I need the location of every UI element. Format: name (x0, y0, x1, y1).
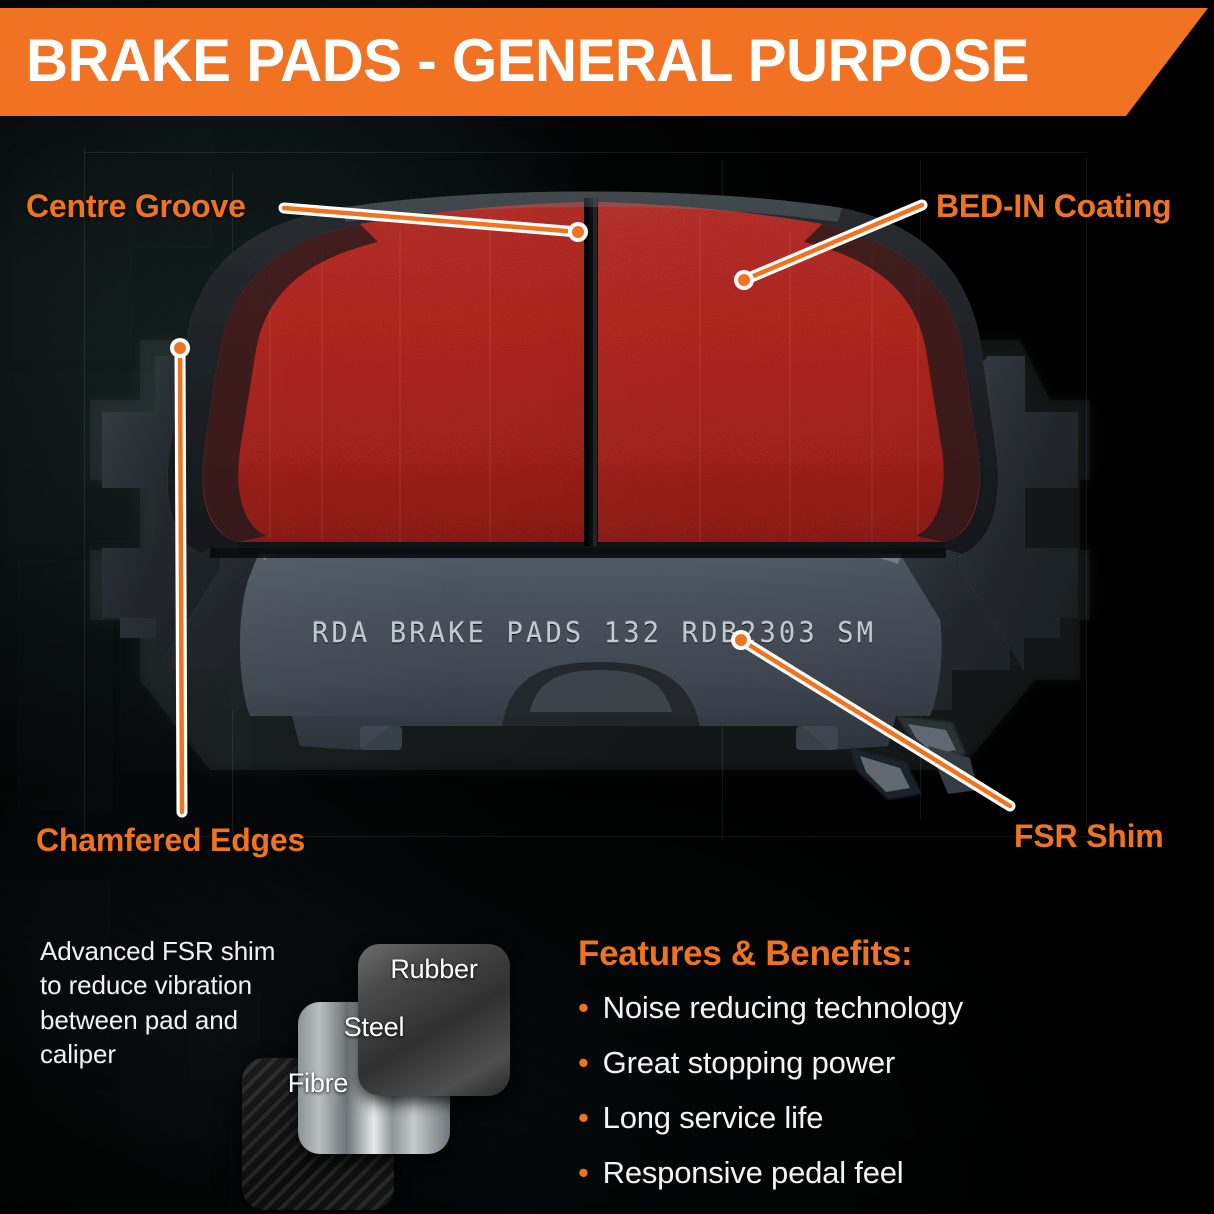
feature-text: Great stopping power (603, 1045, 895, 1081)
features-list: • Noise reducing technology • Great stop… (578, 990, 1138, 1191)
feature-text: Noise reducing technology (603, 990, 963, 1026)
feature-text: Long service life (603, 1100, 824, 1136)
bullet-icon: • (578, 1047, 589, 1078)
brake-pad-illustration: RDA BRAKE PADS 132 RDB2303 SM (60, 150, 1120, 830)
features-heading: Features & Benefits: (578, 934, 1138, 974)
feature-item: • Responsive pedal feel (578, 1155, 1138, 1191)
feature-item: • Long service life (578, 1100, 1138, 1136)
brake-pad-graphic (60, 150, 1120, 830)
engraved-part-number: RDA BRAKE PADS 132 RDB2303 SM (312, 617, 876, 650)
bullet-icon: • (578, 992, 589, 1023)
shim-layers-diagram: Fibre Steel Rubber (236, 930, 526, 1180)
callout-label-chamfered-edges: Chamfered Edges (36, 822, 305, 859)
page-title: BRAKE PADS - GENERAL PURPOSE (26, 31, 1060, 91)
swatch-label-fibre: Fibre (288, 1058, 349, 1099)
feature-item: • Great stopping power (578, 1045, 1138, 1081)
callout-label-fsr-shim: FSR Shim (1014, 818, 1164, 855)
callout-label-bed-in-coating: BED-IN Coating (936, 188, 1171, 225)
bullet-icon: • (578, 1157, 589, 1188)
feature-item: • Noise reducing technology (578, 990, 1138, 1026)
callout-label-centre-groove: Centre Groove (26, 188, 246, 225)
infographic-page: BRAKE PADS - GENERAL PURPOSE (0, 0, 1214, 1214)
feature-text: Responsive pedal feel (603, 1155, 904, 1191)
swatch-label-rubber: Rubber (390, 944, 477, 985)
bullet-icon: • (578, 1102, 589, 1133)
swatch-label-steel: Steel (344, 1002, 405, 1043)
page-title-text: BRAKE PADS - GENERAL PURPOSE (26, 31, 1029, 91)
header-banner: BRAKE PADS - GENERAL PURPOSE (0, 8, 1214, 116)
features-benefits-section: Features & Benefits: • Noise reducing te… (578, 934, 1138, 1210)
